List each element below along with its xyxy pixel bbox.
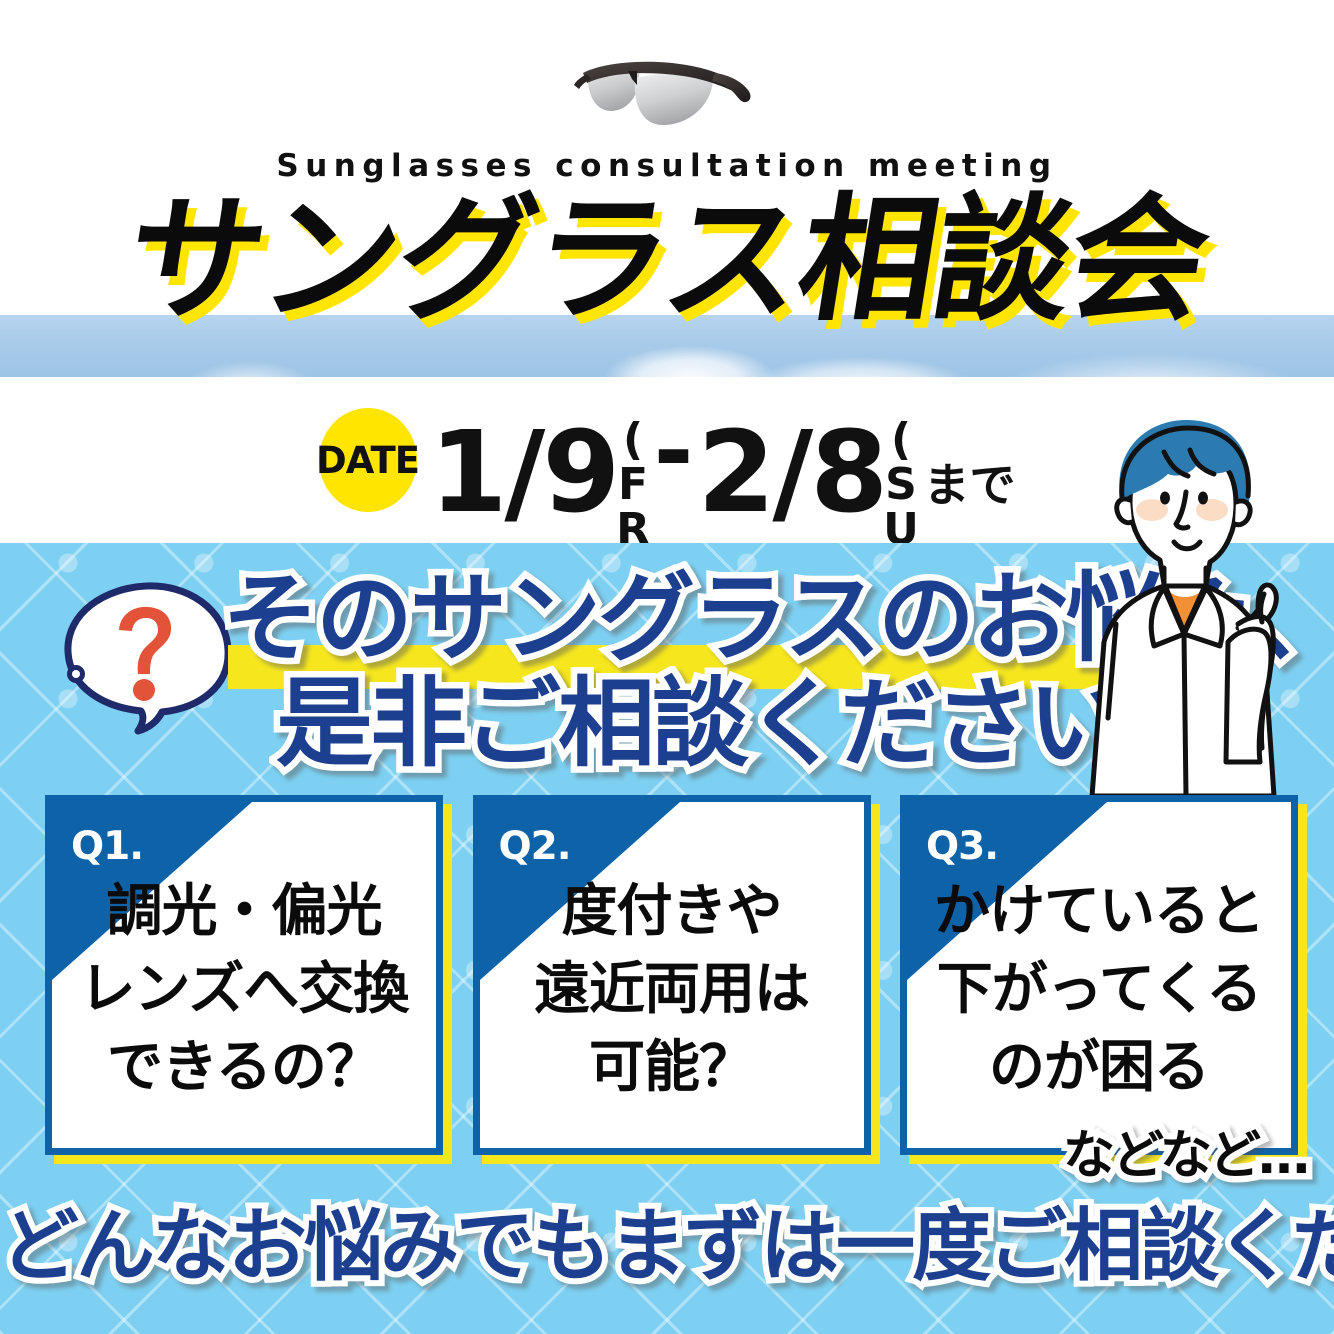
date-end-dow: (SUN) (883, 414, 917, 518)
question-text-line: 度付きや (534, 873, 809, 951)
english-tagline: Sunglasses consultation meeting (0, 148, 1334, 184)
question-label: Q2. (499, 824, 571, 869)
question-card-body: Q3. かけていると 下がってくる のが困る (907, 802, 1291, 1148)
question-card-body: Q1. 調光・偏光 レンズへ交換 できるの？ (52, 802, 436, 1148)
question-text-line: 可能？ (534, 1029, 809, 1107)
page-title: サングラス相談会 (0, 186, 1334, 336)
question-card[interactable]: Q3. かけていると 下がってくる のが困る (900, 795, 1298, 1155)
date-range: 1/9 (FRI) - 2/8 (SUN) まで (430, 395, 1016, 525)
question-label: Q1. (71, 824, 143, 869)
question-text: 調光・偏光 レンズへ交換 できるの？ (80, 873, 409, 1107)
date-dash: - (654, 395, 694, 507)
question-text-line: かけていると (934, 873, 1264, 951)
page-title-text: サングラス相談会 (116, 186, 1217, 336)
question-card-list: Q1. 調光・偏光 レンズへ交換 できるの？ Q2. 度付きや 遠近両用は (45, 795, 1298, 1155)
question-text: 度付きや 遠近両用は 可能？ (534, 873, 809, 1107)
question-text-line: できるの？ (80, 1029, 409, 1107)
date-end: 2/8 (697, 421, 885, 525)
footer-call-to-action: どんなお悩みでもまずは一度ご相談ください！ (0, 1198, 1334, 1294)
staff-illustration (1078, 418, 1334, 818)
date-badge: DATE (319, 408, 417, 512)
question-text-line: レンズへ交換 (80, 951, 409, 1029)
question-text: かけていると 下がってくる のが困る (934, 873, 1264, 1107)
sunglasses-icon (565, 33, 770, 138)
question-text-line: 遠近両用は (534, 951, 809, 1029)
question-text-line: のが困る (934, 1029, 1264, 1107)
date-start: 1/9 (430, 421, 618, 525)
question-text-line: 調光・偏光 (80, 873, 409, 951)
date-suffix: まで (924, 449, 1016, 515)
poster-root: Sunglasses consultation meeting サングラス相談会… (0, 0, 1334, 1334)
date-start-dow: (FRI) (615, 414, 649, 518)
question-text-line: 下がってくる (934, 951, 1264, 1029)
question-card-body: Q2. 度付きや 遠近両用は 可能？ (480, 802, 864, 1148)
question-card[interactable]: Q2. 度付きや 遠近両用は 可能？ (473, 795, 871, 1155)
question-card[interactable]: Q1. 調光・偏光 レンズへ交換 できるの？ (45, 795, 443, 1155)
etc-note: などなど… (1063, 1113, 1307, 1188)
question-label: Q3. (926, 824, 998, 869)
